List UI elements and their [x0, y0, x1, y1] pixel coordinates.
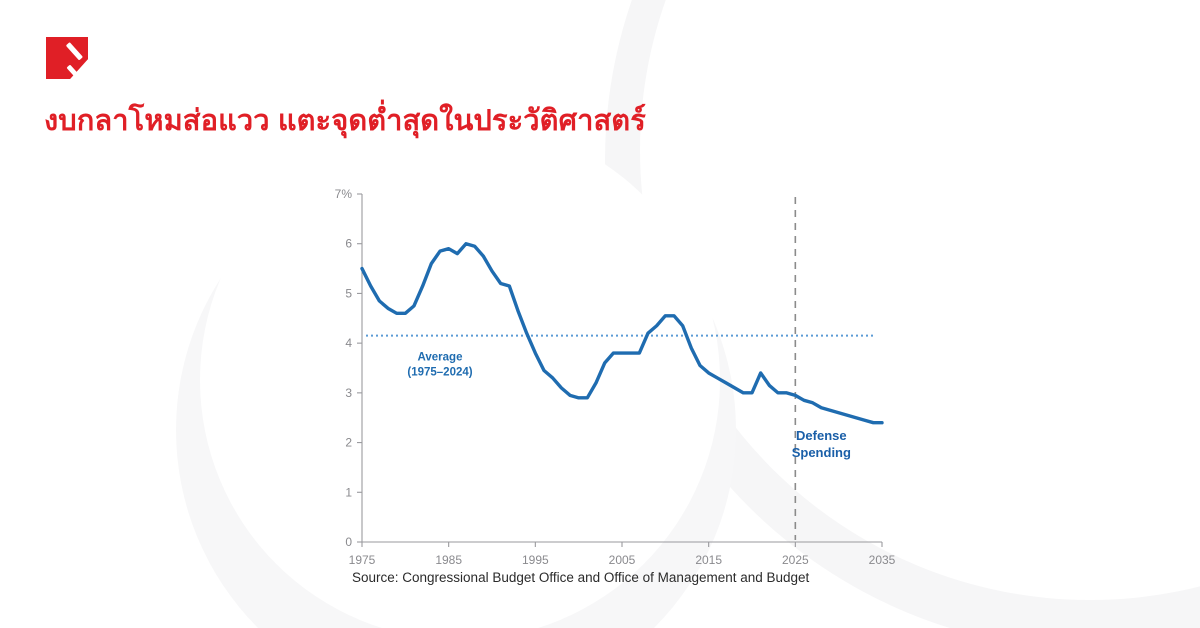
y-axis-tick-label: 0 [345, 535, 352, 549]
x-axis-tick-label: 1975 [349, 553, 376, 567]
y-axis-tick-label: 6 [345, 237, 352, 251]
x-axis-tick-label: 2025 [782, 553, 809, 567]
average-label-line-1: Average [418, 352, 463, 364]
y-axis-tick-label: 7% [335, 187, 353, 201]
defense-spending-chart: 7%65432101975198519952005201520252035Ave… [330, 178, 910, 598]
watermark-mask-left [0, 210, 350, 628]
page-title: งบกลาโหมส่อแวว แตะจุดต่ำสุดในประวัติศาสต… [44, 104, 646, 139]
defense-spending-line [362, 244, 882, 423]
chart-svg: 7%65432101975198519952005201520252035Ave… [330, 178, 910, 598]
x-axis-tick-label: 2005 [609, 553, 636, 567]
y-axis-tick-label: 1 [345, 485, 352, 499]
x-axis-tick-label: 2035 [869, 553, 896, 567]
y-axis-tick-label: 4 [345, 336, 352, 350]
y-axis-tick-label: 3 [345, 386, 352, 400]
y-axis-tick-label: 2 [345, 436, 352, 450]
chart-source-note: Source: Congressional Budget Office and … [352, 570, 809, 585]
pen-square-logo-icon [44, 34, 92, 86]
x-axis-tick-label: 1985 [435, 553, 462, 567]
series-label-line-1: Defense [796, 428, 847, 443]
average-label-line-2: (1975–2024) [407, 367, 472, 379]
series-label-line-2: Spending [792, 445, 851, 460]
x-axis-tick-label: 1995 [522, 553, 549, 567]
slide-canvas: งบกลาโหมส่อแวว แตะจุดต่ำสุดในประวัติศาสต… [0, 0, 1200, 628]
y-axis-tick-label: 5 [345, 286, 352, 300]
x-axis-tick-label: 2015 [695, 553, 722, 567]
